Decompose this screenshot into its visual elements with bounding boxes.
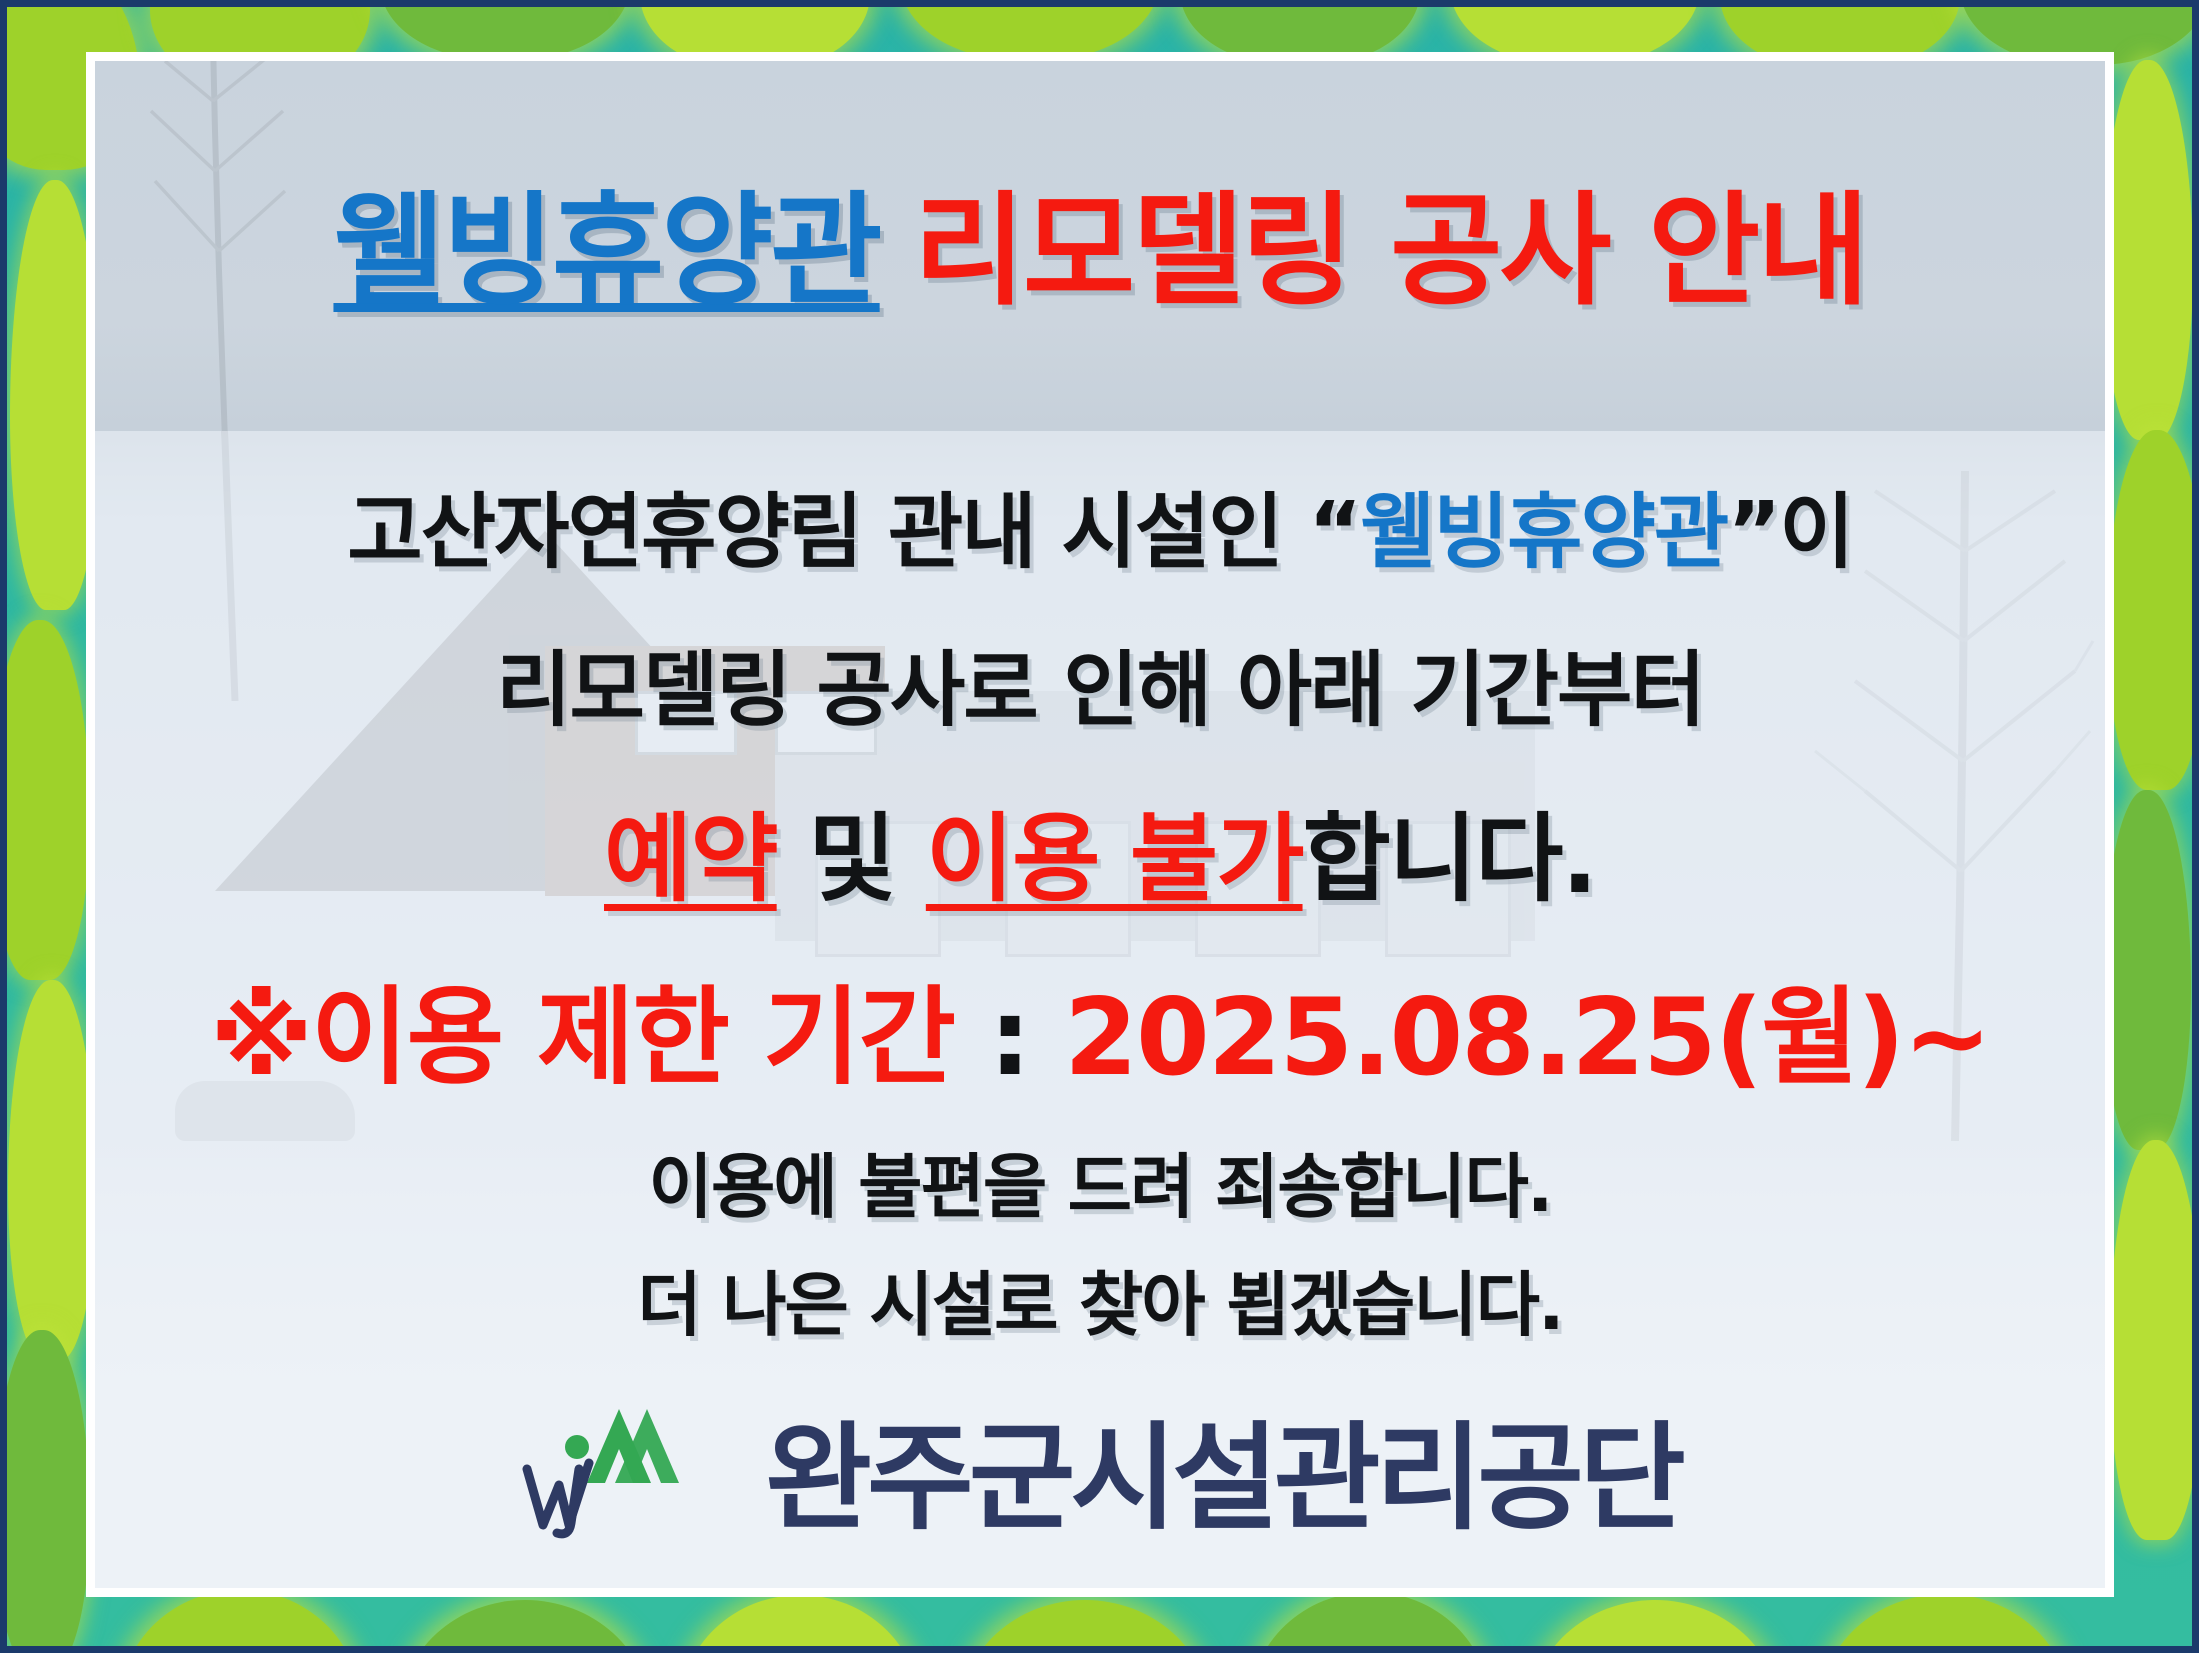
wj-mountain-mark-icon bbox=[519, 1391, 749, 1541]
tree-decoration bbox=[2103, 60, 2193, 440]
poster-title: 웰빙휴양관리모델링 공사 안내 bbox=[95, 187, 2105, 315]
body-line-1-suffix: 이 bbox=[1779, 485, 1852, 580]
body-line-1-facility: 웰빙휴양관 bbox=[1360, 485, 1727, 580]
unavailable-keyword: 이용 불가 bbox=[926, 803, 1303, 915]
tree-decoration bbox=[2109, 1140, 2199, 1540]
quote-close: ” bbox=[1727, 485, 1779, 580]
body-line-2-text: 리모델링 공사로 인해 아래 기간부터 bbox=[496, 643, 1704, 738]
title-subject: 리모델링 공사 안내 bbox=[914, 180, 1867, 322]
title-facility: 웰빙휴양관 bbox=[333, 180, 879, 322]
apology-line-1: 이용에 불편을 드려 죄송합니다. bbox=[95, 1131, 2105, 1232]
restriction-period-label: 이용 제한 기간 bbox=[311, 976, 989, 1099]
apology-line-2: 더 나은 시설로 찾아 뵙겠습니다. bbox=[95, 1249, 2105, 1350]
restriction-period-colon: : bbox=[989, 976, 1029, 1099]
body-copy: 고산자연휴양림 관내 시설인 “웰빙휴양관”이 리모델링 공사로 인해 아래 기… bbox=[95, 431, 2105, 1588]
organization-logo: 완주군시설관리공단 bbox=[95, 1391, 2105, 1541]
body-line-3: 예약 및 이용 불가합니다. bbox=[95, 781, 2105, 920]
content-panel: 웰빙휴양관리모델링 공사 안내 고산자연휴양림 관내 시설인 “웰빙휴양관”이 … bbox=[86, 52, 2114, 1597]
reservation-keyword: 예약 bbox=[604, 803, 777, 915]
tree-decoration bbox=[8, 980, 96, 1360]
body-line-3-tail: 합니다. bbox=[1303, 803, 1596, 915]
reference-mark-icon: ※ bbox=[210, 976, 311, 1099]
organization-name: 완주군시설관리공단 bbox=[765, 1421, 1680, 1541]
notice-poster: 웰빙휴양관리모델링 공사 안내 고산자연휴양림 관내 시설인 “웰빙휴양관”이 … bbox=[0, 0, 2199, 1653]
quote-open: “ bbox=[1308, 485, 1360, 580]
conjunction: 및 bbox=[777, 803, 926, 915]
tree-decoration bbox=[2103, 790, 2191, 1150]
apology-line-1-text: 이용에 불편을 드려 죄송합니다. bbox=[649, 1146, 1552, 1228]
apology-line-2-text: 더 나은 시설로 찾아 뵙겠습니다. bbox=[637, 1264, 1562, 1346]
restriction-period-value: 2025.08.25(월)~ bbox=[1029, 976, 1990, 1099]
restriction-period-line: ※이용 제한 기간 : 2025.08.25(월)~ bbox=[95, 951, 2105, 1105]
body-line-2: 리모델링 공사로 인해 아래 기간부터 bbox=[95, 623, 2105, 742]
body-line-1-prefix: 고산자연휴양림 관내 시설인 bbox=[347, 485, 1308, 580]
body-line-1: 고산자연휴양림 관내 시설인 “웰빙휴양관”이 bbox=[95, 465, 2105, 584]
